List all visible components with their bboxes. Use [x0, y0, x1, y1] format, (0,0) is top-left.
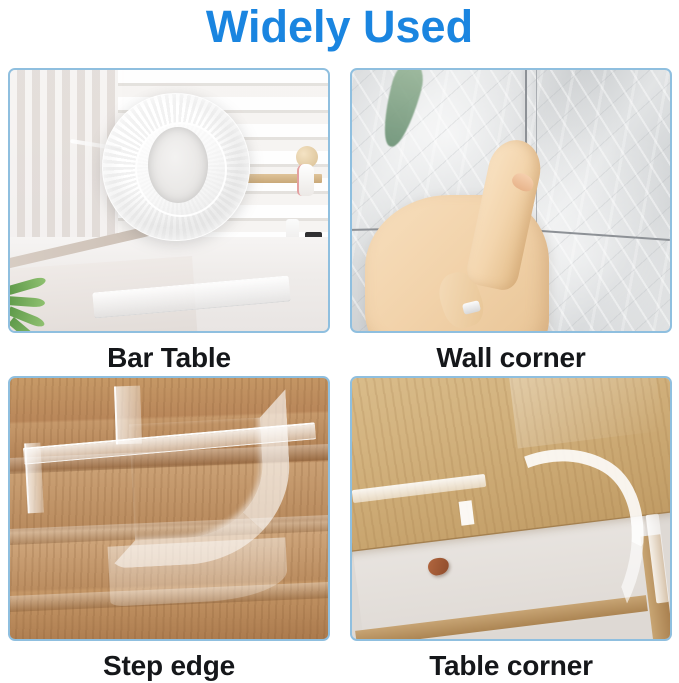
panel-bar-table: Bar Table	[8, 68, 330, 374]
panel-caption: Step edge	[8, 650, 330, 682]
panel-caption: Wall corner	[350, 342, 672, 374]
panel-caption: Bar Table	[8, 342, 330, 374]
tape-roll	[102, 93, 250, 241]
plant-leaf	[8, 296, 45, 308]
astronaut-figurine-body	[297, 164, 314, 196]
panel-caption: Table corner	[350, 650, 672, 682]
tape-strip-upper	[114, 385, 142, 444]
panel-wall-corner: Wall corner	[350, 68, 672, 374]
photo-step-edge	[8, 376, 330, 641]
page-title: Widely Used	[0, 0, 679, 58]
potted-plant	[13, 278, 73, 328]
panel-table-corner: Table corner	[350, 376, 672, 682]
fingernail	[510, 170, 537, 194]
panel-step-edge: Step edge	[8, 376, 330, 682]
plant-leaf	[8, 276, 47, 295]
tape-strip-edge-drop	[24, 443, 44, 514]
infographic-page: Widely Used	[0, 0, 679, 683]
photo-bar-table	[8, 68, 330, 333]
photo-table-corner	[350, 376, 672, 641]
tape-roll-hole	[148, 127, 208, 203]
photo-wall-corner	[350, 68, 672, 333]
panel-grid: Bar Table Wall corner	[8, 68, 672, 680]
